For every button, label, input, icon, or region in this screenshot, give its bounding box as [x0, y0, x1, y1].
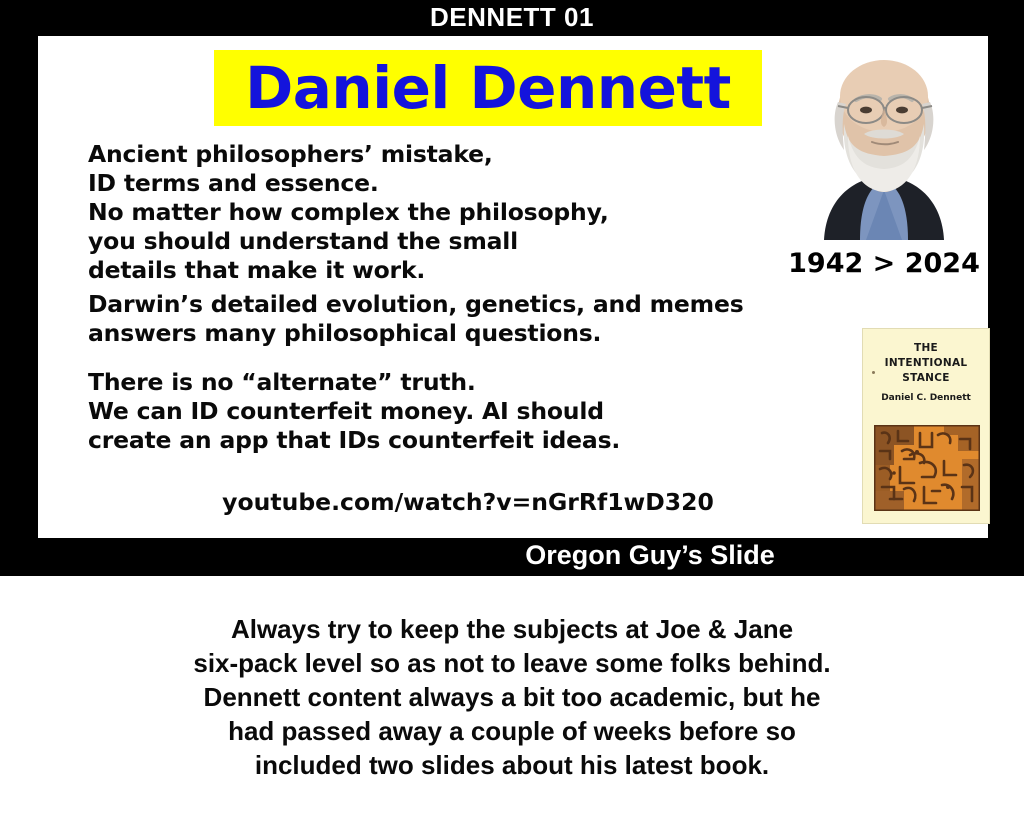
portrait-illustration [790, 50, 978, 240]
body-paragraph-1: Ancient philosophers’ mistake, ID terms … [88, 140, 768, 285]
dennett-portrait-image [790, 50, 978, 240]
klee-style-artwork [874, 425, 980, 511]
slide-header-title: DENNETT 01 [0, 0, 1024, 36]
book-cover-artwork [874, 425, 980, 511]
slide-title-text: Daniel Dennett [245, 59, 731, 117]
body-paragraph-3: There is no “alternate” truth. We can ID… [88, 368, 808, 455]
portrait-figure [790, 50, 978, 240]
slide-panel: Daniel Dennett [38, 36, 988, 538]
book-cover: THE INTENTIONAL STANCE Daniel C. Dennett [862, 328, 990, 524]
book-cover-speck [872, 371, 875, 374]
title-banner: Daniel Dennett [214, 50, 762, 126]
life-dates-label: 1942 > 2024 [764, 248, 1004, 279]
book-author: Daniel C. Dennett [863, 393, 989, 403]
book-title: THE INTENTIONAL STANCE [863, 341, 989, 386]
body-paragraph-2: Darwin’s detailed evolution, genetics, a… [88, 290, 888, 348]
slide-credit-label: Oregon Guy’s Slide [300, 538, 1000, 574]
bottom-caption-text: Always try to keep the subjects at Joe &… [62, 612, 962, 782]
video-url-text: youtube.com/watch?v=nGrRf1wD320 [88, 488, 848, 516]
slide-frame: DENNETT 01 Daniel Dennett [0, 0, 1024, 576]
